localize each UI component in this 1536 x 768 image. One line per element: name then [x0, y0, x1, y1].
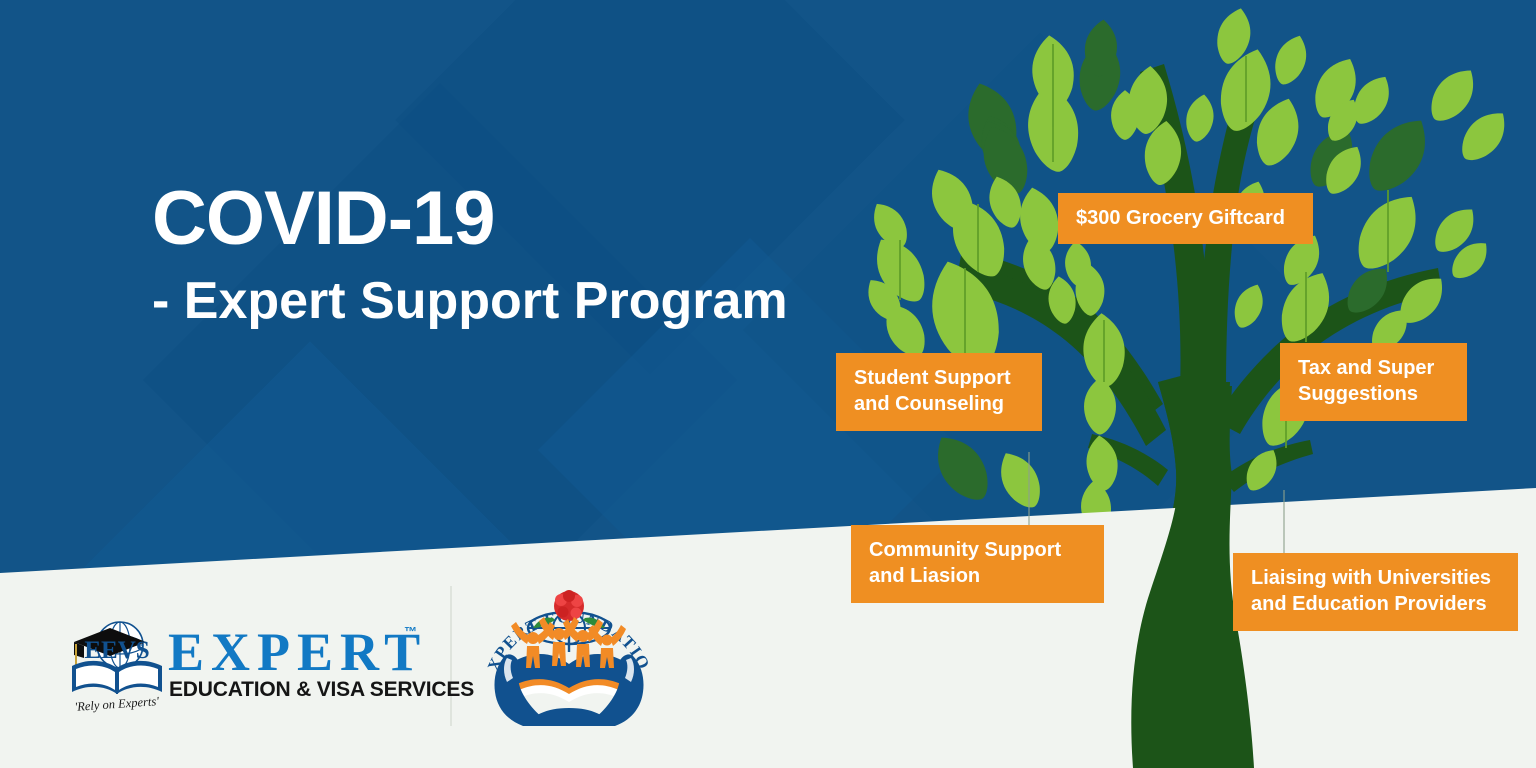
- callout-liaising-universities[interactable]: Liaising with Universities and Education…: [1233, 553, 1518, 631]
- callout-grocery-giftcard[interactable]: $300 Grocery Giftcard: [1058, 193, 1313, 244]
- eevs-monogram-text: EEVS: [84, 637, 149, 664]
- expert-subtitle: EDUCATION & VISA SERVICES: [169, 679, 474, 700]
- expert-foundation-logo: EXPERT FOUNDATION: [483, 566, 655, 731]
- expert-wordmark: EXPERT: [168, 625, 427, 679]
- eevs-tagline-text: 'Rely on Experts': [74, 694, 160, 714]
- callout-student-support[interactable]: Student Support and Counseling: [836, 353, 1042, 431]
- headline-primary: COVID-19: [152, 181, 788, 257]
- logo-divider: [450, 586, 452, 726]
- callout-tax-super[interactable]: Tax and Super Suggestions: [1280, 343, 1467, 421]
- callout-community-support[interactable]: Community Support and Liasion: [851, 525, 1104, 603]
- page-title: COVID-19 - Expert Support Program: [152, 181, 788, 327]
- covid19-support-program-banner: COVID-19 - Expert Support Program $300 G…: [0, 0, 1536, 768]
- eevs-logo-mark: EEVS 'Rely on Experts': [62, 618, 172, 714]
- trademark-symbol: ™: [404, 624, 417, 639]
- headline-secondary: - Expert Support Program: [152, 275, 788, 327]
